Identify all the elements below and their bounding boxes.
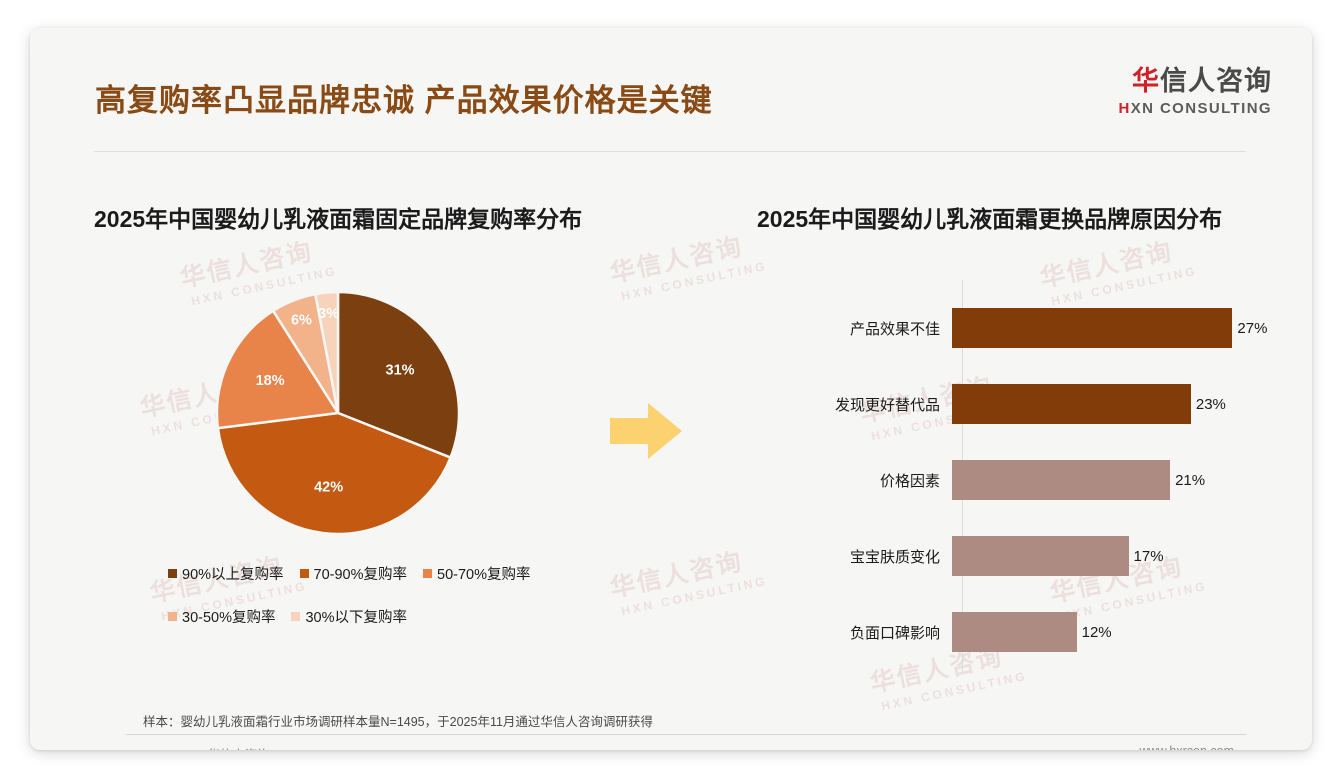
- legend-item[interactable]: 90%以上复购率: [168, 563, 284, 584]
- footer-copyright: ©2026.1 HXR华信人咨询: [130, 744, 270, 750]
- bar-fill: [952, 308, 1232, 348]
- bar-category-label: 产品效果不佳: [730, 318, 952, 339]
- legend-swatch-icon: [423, 569, 432, 578]
- bar-category-label: 宝宝肤质变化: [730, 546, 952, 567]
- slide-card: 华信人咨询 HXN CONSULTING 华信人咨询 HXN CONSULTIN…: [30, 28, 1312, 750]
- logo-english-text: HXN CONSULTING: [1119, 101, 1273, 116]
- legend-swatch-icon: [300, 569, 309, 578]
- footer-url[interactable]: www.hxrcon.com: [1140, 744, 1234, 750]
- legend-swatch-icon: [168, 612, 177, 621]
- arrow-right-svg: [608, 400, 684, 462]
- bar-fill: [952, 384, 1191, 424]
- bar-fill: [952, 460, 1170, 500]
- logo-chinese-text: 华信人咨询: [1119, 68, 1273, 95]
- sample-note: 样本：婴幼儿乳液面霜行业市场调研样本量N=1495，于2025年11月通过华信人…: [143, 711, 653, 730]
- bar-track: 12%: [952, 612, 1296, 652]
- bar-category-label: 价格因素: [730, 470, 952, 491]
- logo-en-rest: XN CONSULTING: [1131, 100, 1272, 117]
- legend-item[interactable]: 30%以下复购率: [291, 606, 407, 627]
- legend-item[interactable]: 50-70%复购率: [423, 563, 530, 584]
- pie-slice-value-label: 42%: [314, 479, 343, 495]
- bar-row[interactable]: 负面口碑影响 12%: [730, 612, 1296, 652]
- pie-chart: 31%42%18%6%3%: [215, 290, 461, 536]
- legend-row: 90%以上复购率 70-90%复购率 50-70%复购率: [168, 563, 608, 584]
- bar-fill: [952, 612, 1077, 652]
- pie-chart-svg: 31%42%18%6%3%: [215, 290, 461, 536]
- legend-label: 90%以上复购率: [182, 563, 284, 584]
- bar-row[interactable]: 价格因素 21%: [730, 460, 1296, 500]
- bar-track: 17%: [952, 536, 1296, 576]
- pie-slice-value-label: 3%: [318, 306, 339, 322]
- pie-chart-title: 2025年中国婴幼儿乳液面霜固定品牌复购率分布: [94, 200, 582, 234]
- legend-swatch-icon: [291, 612, 300, 621]
- bar-value-label: 17%: [1134, 548, 1164, 565]
- bar-value-label: 21%: [1175, 472, 1205, 489]
- bar-track: 23%: [952, 384, 1296, 424]
- legend-swatch-icon: [168, 569, 177, 578]
- logo-en-highlight: H: [1119, 100, 1131, 117]
- legend-item[interactable]: 30-50%复购率: [168, 606, 275, 627]
- legend-label: 30-50%复购率: [182, 606, 275, 627]
- bar-chart-title: 2025年中国婴幼儿乳液面霜更换品牌原因分布: [757, 200, 1222, 234]
- bar-row[interactable]: 产品效果不佳 27%: [730, 308, 1296, 348]
- bar-category-label: 负面口碑影响: [730, 622, 952, 643]
- bar-row[interactable]: 宝宝肤质变化 17%: [730, 536, 1296, 576]
- bar-value-label: 27%: [1237, 320, 1267, 337]
- logo-cn-highlight: 华: [1132, 66, 1160, 96]
- bar-track: 21%: [952, 460, 1296, 500]
- legend-label: 70-90%复购率: [314, 563, 407, 584]
- bar-value-label: 12%: [1082, 624, 1112, 641]
- pie-chart-panel: 31%42%18%6%3% 90%以上复购率 70-90%复购率 50-70%复…: [70, 268, 640, 668]
- bar-value-label: 23%: [1196, 396, 1226, 413]
- bar-row[interactable]: 发现更好替代品 23%: [730, 384, 1296, 424]
- page-title: 高复购率凸显品牌忠诚 产品效果价格是关键: [95, 75, 713, 120]
- header-divider: [94, 151, 1246, 152]
- legend-label: 30%以下复购率: [305, 606, 407, 627]
- brand-logo: 华信人咨询 HXN CONSULTING: [1119, 68, 1273, 116]
- bar-chart-panel: 产品效果不佳 27% 发现更好替代品 23% 价格因素 21% 宝宝肤质变化: [730, 280, 1296, 678]
- logo-cn-rest: 信人咨询: [1160, 66, 1272, 96]
- footer-divider: [126, 734, 1246, 735]
- arrow-right-icon: [608, 400, 684, 462]
- legend-item[interactable]: 70-90%复购率: [300, 563, 407, 584]
- legend-label: 50-70%复购率: [437, 563, 530, 584]
- pie-slice-value-label: 6%: [291, 313, 312, 329]
- bar-fill: [952, 536, 1129, 576]
- pie-slice-value-label: 31%: [386, 363, 415, 379]
- pie-chart-legend: 90%以上复购率 70-90%复购率 50-70%复购率 30-50%复购率: [168, 563, 608, 649]
- bar-track: 27%: [952, 308, 1296, 348]
- pie-slice-value-label: 18%: [256, 373, 285, 389]
- bar-category-label: 发现更好替代品: [730, 394, 952, 415]
- legend-row: 30-50%复购率 30%以下复购率: [168, 606, 608, 627]
